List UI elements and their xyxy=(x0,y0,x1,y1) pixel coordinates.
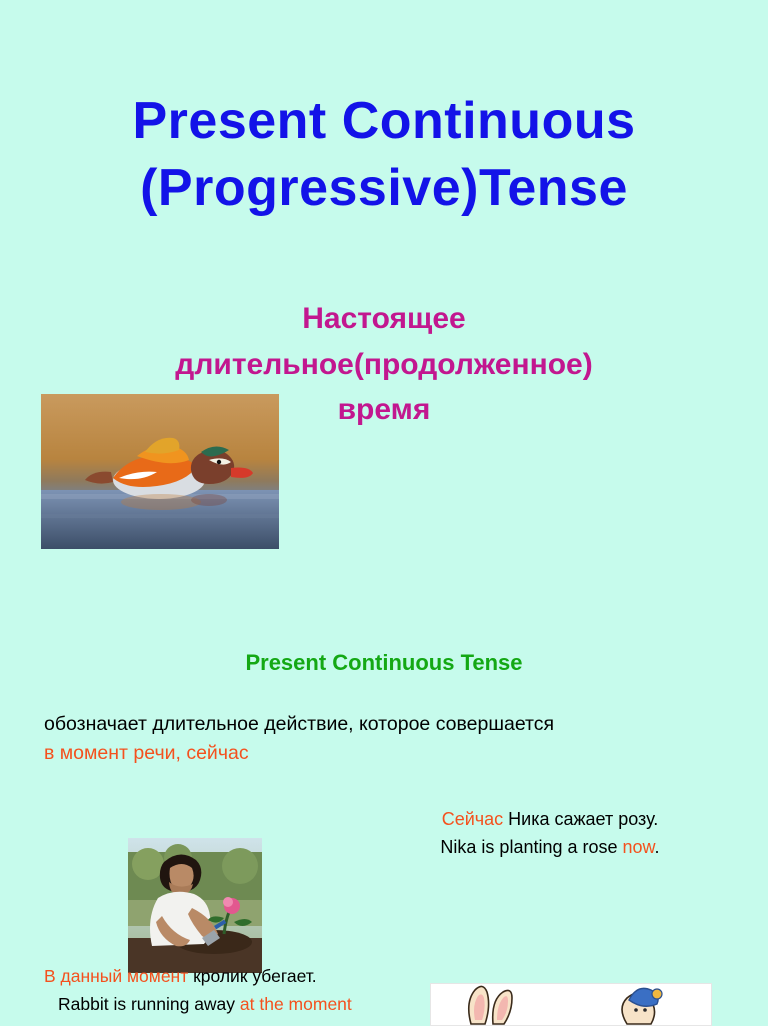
title-line-2: (Progressive)Tense xyxy=(0,155,768,222)
example-right-russian: Сейчас Ника сажает розу. xyxy=(360,806,740,834)
example-right-ru-rest: Ника сажает розу. xyxy=(503,809,658,829)
title-line-1: Present Continuous xyxy=(0,88,768,155)
example-right-english: Nika is planting a rose now. xyxy=(360,834,740,862)
subtitle-line-1: Настоящее xyxy=(0,296,768,342)
example-bottom-ru-accent: В данный момент xyxy=(44,966,188,986)
example-bottom-english: Rabbit is running away at the moment xyxy=(44,990,444,1018)
mandarin-duck-photo xyxy=(41,394,279,549)
example-right: Сейчас Ника сажает розу. Nika is plantin… xyxy=(360,806,740,862)
example-right-en-after: . xyxy=(655,837,660,857)
woman-planting-rose-photo xyxy=(128,838,262,973)
example-right-en-accent: now xyxy=(623,837,655,857)
slide-canvas: Present Continuous (Progressive)Tense На… xyxy=(0,0,768,1024)
rabbit-running-cartoon xyxy=(430,983,712,1026)
definition-line-2: в момент речи, сейчас xyxy=(44,739,744,768)
definition-text: обозначает длительное действие, которое … xyxy=(44,710,744,769)
example-bottom-ru-rest: кролик убегает. xyxy=(188,966,316,986)
example-bottom-en-accent: at the moment xyxy=(240,994,352,1014)
green-heading: Present Continuous Tense xyxy=(0,650,768,676)
example-right-en-before: Nika is planting a rose xyxy=(440,837,622,857)
example-bottom-russian: В данный момент кролик убегает. xyxy=(44,962,444,990)
example-right-ru-accent: Сейчас xyxy=(442,809,503,829)
example-bottom-en-before: Rabbit is running away xyxy=(58,994,240,1014)
page-title: Present Continuous (Progressive)Tense xyxy=(0,88,768,221)
definition-line-1: обозначает длительное действие, которое … xyxy=(44,710,744,739)
example-bottom: В данный момент кролик убегает. Rabbit i… xyxy=(44,962,444,1018)
subtitle-line-2: длительное(продолженное) xyxy=(0,342,768,388)
